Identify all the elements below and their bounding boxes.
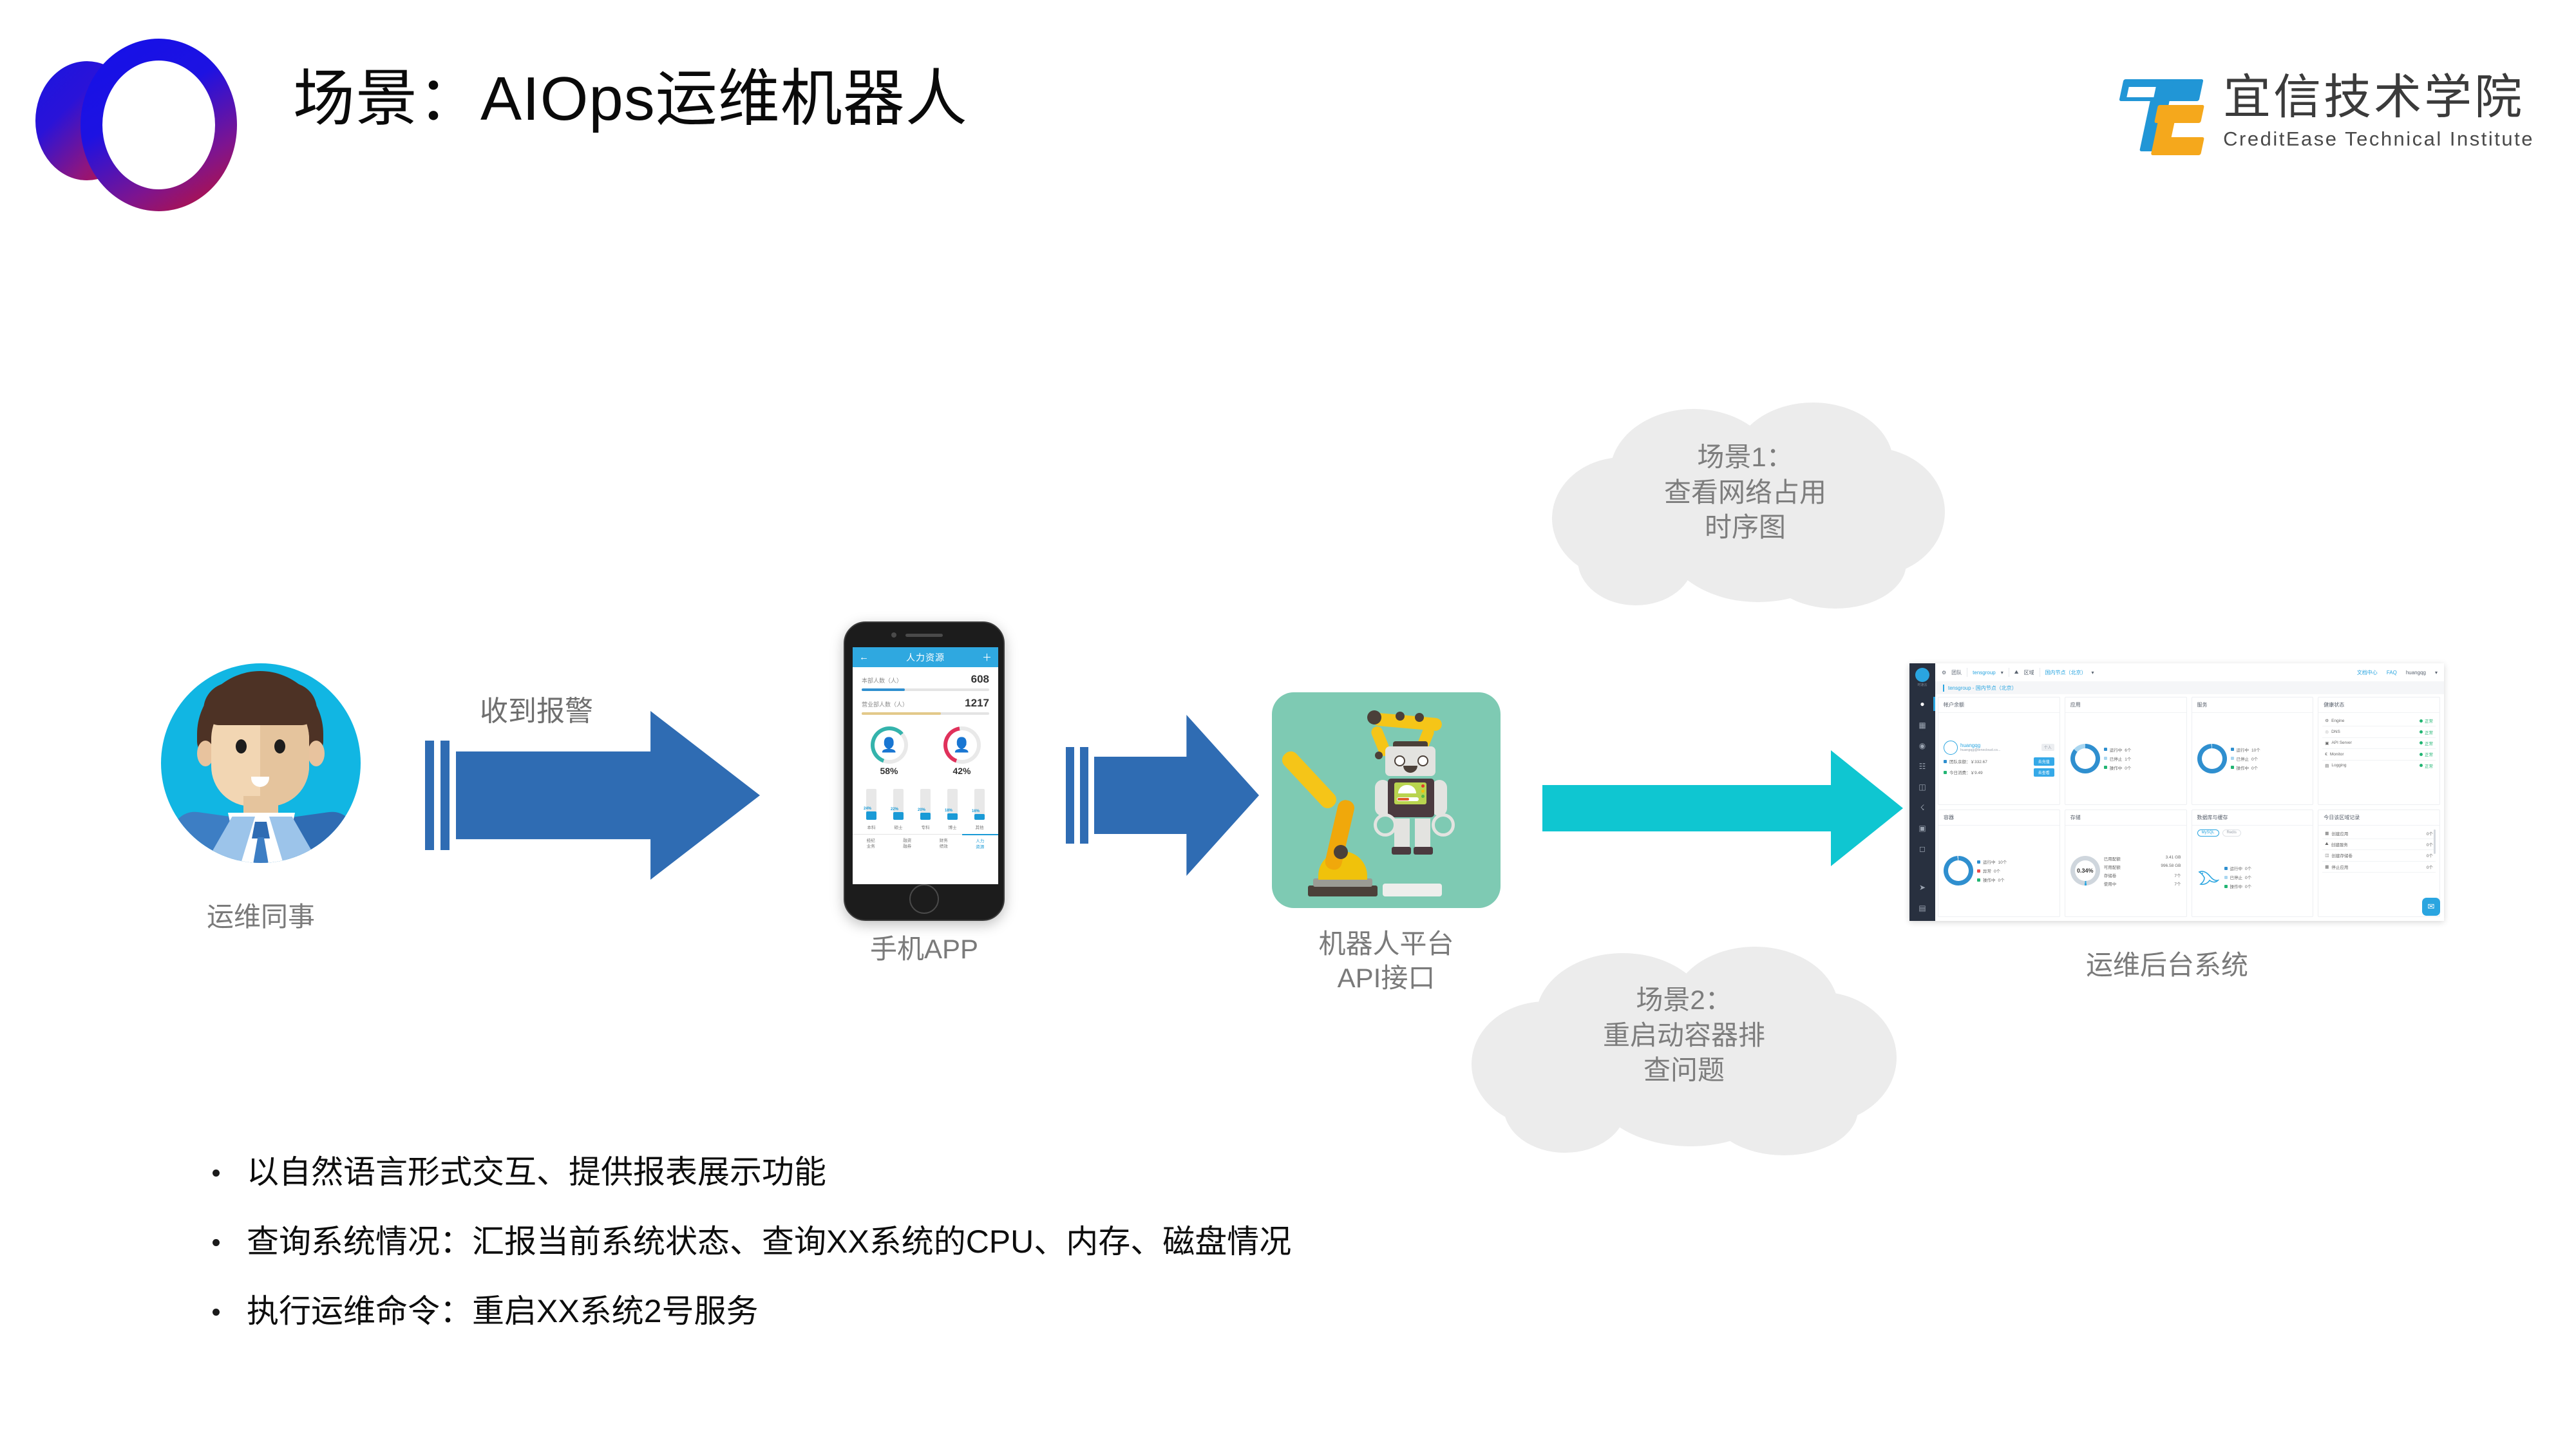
card-title: 今日该区域记录 xyxy=(2318,810,2439,826)
list-item: 以自然语言形式交互、提供报表展示功能 xyxy=(213,1153,1887,1191)
account-username: huangqg xyxy=(1960,743,2000,748)
card-database-cache: 数据库与缓存 MySQL Redis 运行中0个 已停止0个 xyxy=(2192,810,2314,918)
breadcrumb-text: tensgroup - 国内节点（北京） xyxy=(1948,685,2017,692)
region-selector[interactable]: 国内节点（北京） xyxy=(2045,669,2087,676)
metric-label: 本部人数（人） xyxy=(862,676,902,685)
card-services: 服务 运行中10个 已停止0个 操作中0个 xyxy=(2192,697,2314,805)
monitor-icon: € xyxy=(2325,752,2327,757)
bar-label: 硕士 xyxy=(892,824,905,830)
docs-link[interactable]: 文档中心 xyxy=(2357,669,2378,676)
bar-percent: 18% xyxy=(945,809,952,813)
containers-donut-chart xyxy=(1944,856,1973,885)
creditease-logo: 宜信技术学院 CreditEase Technical Institute xyxy=(2116,68,2534,155)
bar-percent: 22% xyxy=(891,808,898,811)
arrow-robot-to-dashboard xyxy=(1542,770,1903,847)
tc-mark-icon xyxy=(2116,68,2206,155)
avatar xyxy=(1944,741,1958,755)
ops-engineer-avatar xyxy=(161,663,361,863)
health-row: ▤ Logging 正常 xyxy=(2322,761,2436,771)
bar-label: 其他 xyxy=(973,824,986,830)
chevron-down-icon[interactable]: ▾ xyxy=(2435,670,2438,676)
bar-item: 18% 博士 xyxy=(946,785,959,830)
cloud2-line3: 查问题 xyxy=(1459,1053,1909,1088)
metric-headquarters: 本部人数（人） 608 xyxy=(853,667,998,691)
bullet-list: 以自然语言形式交互、提供报表展示功能 查询系统情况：汇报当前系统状态、查询XX系… xyxy=(213,1153,1887,1361)
bar-percent: 24% xyxy=(864,807,871,811)
api-server-icon: ▣ xyxy=(2325,741,2329,746)
list-item: 执行运维命令：重启XX系统2号服务 xyxy=(213,1292,1887,1331)
gender-donut-female: 👤 42% xyxy=(943,726,981,776)
bullet-text: 查询系统情况：汇报当前系统状态、查询XX系统的CPU、内存、磁盘情况 xyxy=(247,1222,1291,1261)
record-row: ◫ 创建存储卷0个 xyxy=(2322,850,2436,861)
arrow-person-to-phone xyxy=(425,741,760,850)
sidebar-icon-database[interactable]: ☇ xyxy=(1917,802,1927,813)
bullet-dot-icon xyxy=(213,1239,220,1246)
brand-name-en: CreditEase Technical Institute xyxy=(2223,129,2534,149)
dashboard-sidebar: 时速云 ● ▦ ◉ ☷ ◫ ☇ ▣ ◻ ➤ ▤ xyxy=(1909,663,1935,921)
logo-ring-outline xyxy=(80,39,237,211)
card-title: 存储 xyxy=(2065,810,2186,826)
phone-tab-hr[interactable]: 人力资源 xyxy=(962,834,999,855)
phone-tab-brokerage[interactable]: 经纪业务 xyxy=(853,835,889,855)
bullet-dot-icon xyxy=(213,1309,220,1316)
metric-value: 1217 xyxy=(965,697,989,710)
metric-branches: 营业部人数（人） 1217 xyxy=(853,691,998,715)
ops-engineer-label: 运维同事 xyxy=(161,895,361,934)
redis-tab[interactable]: Redis xyxy=(2222,829,2241,837)
donut-percent: 58% xyxy=(871,766,908,776)
mysql-tab[interactable]: MySQL xyxy=(2197,829,2219,837)
brand-rings-logo xyxy=(35,35,196,184)
bar-label: 博士 xyxy=(946,824,959,830)
health-row: ⚙ Engine 正常 xyxy=(2322,715,2436,726)
bullet-text: 以自然语言形式交互、提供报表展示功能 xyxy=(247,1153,826,1191)
donut-percent: 42% xyxy=(943,766,981,776)
bar-label: 专科 xyxy=(919,824,932,830)
sidebar-icon-monitor[interactable]: ▣ xyxy=(1917,823,1927,833)
stop-app-icon: ▦ xyxy=(2325,864,2329,869)
chevron-down-icon[interactable]: ▾ xyxy=(2092,670,2094,676)
team-balance-label: 团队余额：￥332.67 xyxy=(1949,758,1987,764)
home-button-icon xyxy=(909,884,939,914)
card-title: 服务 xyxy=(2192,697,2313,713)
card-health-status: 健康状态 ⚙ Engine 正常 ☉ DNS 正常 ▣ API Server 正… xyxy=(2318,697,2440,805)
health-row: ☉ DNS 正常 xyxy=(2322,726,2436,737)
sidebar-icon-storage[interactable]: ◫ xyxy=(1917,782,1927,792)
health-row: ▣ API Server 正常 xyxy=(2322,738,2436,749)
chevron-down-icon[interactable]: ▾ xyxy=(2001,670,2003,676)
user-menu[interactable]: huangqg xyxy=(2406,670,2426,676)
sidebar-icon-collapse[interactable]: ▤ xyxy=(1917,903,1927,913)
education-bar-chart: 24% 本科 22% 硕士 20% 专科 xyxy=(853,785,998,830)
cloud2-line2: 重启动容器排 xyxy=(1459,1018,1909,1054)
engine-icon: ⚙ xyxy=(2325,718,2329,723)
cloud-logo-icon xyxy=(1915,668,1929,682)
sidebar-icon-overview[interactable]: ● xyxy=(1917,699,1927,709)
create-service-icon: ⛰ xyxy=(2325,842,2328,847)
bar-item: 24% 本科 xyxy=(865,785,878,830)
card-title: 健康状态 xyxy=(2318,697,2439,713)
cloud1-line3: 时序图 xyxy=(1539,510,1951,545)
card-title: 数据库与缓存 xyxy=(2192,810,2313,826)
team-selector[interactable]: tensgroup xyxy=(1973,670,1996,676)
services-donut-chart xyxy=(2197,744,2227,773)
storage-donut-chart: 0.34% xyxy=(2070,856,2100,885)
view-button[interactable]: 去查看 xyxy=(2034,768,2054,777)
sidebar-icon-network[interactable]: ☷ xyxy=(1917,761,1927,772)
ops-dashboard-label: 运维后台系统 xyxy=(1974,943,2360,983)
bar-item: 16% 其他 xyxy=(973,785,986,830)
account-type-badge: 个人 xyxy=(2041,744,2054,751)
sidebar-icon-user[interactable]: ◻ xyxy=(1917,844,1927,854)
mobile-app-label: 手机APP xyxy=(782,927,1066,967)
today-spend-label: 今日消费：￥9.49 xyxy=(1949,769,1983,775)
bar-item: 20% 专科 xyxy=(919,785,932,830)
metric-value: 608 xyxy=(971,673,989,686)
card-account-balance: 帐户余额 huangqg huangqg@tenxcloud.co... 个人 … xyxy=(1938,697,2060,805)
list-item: 查询系统情况：汇报当前系统状态、查询XX系统的CPU、内存、磁盘情况 xyxy=(213,1222,1887,1261)
brand-name-cn: 宜信技术学院 xyxy=(2223,73,2534,121)
record-row: ▦ 停止应用0个 xyxy=(2322,862,2436,873)
card-storage: 存储 0.34% 已用配额3.41 GB 可用配额996.58 GB 存储卷7个… xyxy=(2065,810,2187,918)
dns-icon: ☉ xyxy=(2325,730,2329,735)
scenario-1-cloud: 场景1： 查看网络占用 时序图 xyxy=(1539,402,1951,615)
create-app-icon: ▦ xyxy=(2325,831,2329,836)
mysql-dolphin-icon xyxy=(2197,867,2219,887)
card-containers: 容器 运行中10个 异常0个 操作中0个 xyxy=(1938,810,2060,918)
record-row: ⛰ 创建服务0个 xyxy=(2322,839,2436,850)
mobile-app-mockup: ← 人力资源 ＋ 本部人数（人） 608 营业部人数（人） 1217 xyxy=(844,621,1005,921)
breadcrumb: tensgroup - 国内节点（北京） xyxy=(1935,681,2444,694)
team-label: 团队 xyxy=(1951,669,1962,676)
sidebar-icon-services[interactable]: ◉ xyxy=(1917,741,1927,751)
health-row: € Monitor 正常 xyxy=(2322,749,2436,760)
account-email: huangqg@tenxcloud.co... xyxy=(1960,748,2000,752)
record-row: ▦ 创建应用0个 xyxy=(2322,828,2436,839)
scenario-2-cloud: 场景2： 重启动容器排 查问题 xyxy=(1459,947,1909,1159)
card-applications: 应用 运行中6个 已停止1个 操作中0个 xyxy=(2065,697,2187,805)
recharge-button[interactable]: 去充值 xyxy=(2034,757,2054,766)
back-icon[interactable]: ← xyxy=(859,652,869,663)
apps-donut-chart xyxy=(2070,744,2100,773)
add-icon[interactable]: ＋ xyxy=(982,650,992,664)
region-icon: ⛰ xyxy=(2014,669,2019,676)
region-label: 区域 xyxy=(2024,669,2034,676)
dashboard-topbar: ⚙ 团队 tensgroup ▾ ⛰ 区域 国内节点（北京） ▾ 文档中心 FA… xyxy=(1935,663,2444,682)
bar-percent: 20% xyxy=(918,808,925,812)
logging-icon: ▤ xyxy=(2325,763,2329,768)
ops-dashboard-screenshot: 时速云 ● ▦ ◉ ☷ ◫ ☇ ▣ ◻ ➤ ▤ ⚙ 团队 tensgroup ▾… xyxy=(1909,663,2444,921)
card-title: 应用 xyxy=(2065,697,2186,713)
bar-percent: 16% xyxy=(972,810,980,813)
create-volume-icon: ◫ xyxy=(2325,853,2329,858)
bullet-text: 执行运维命令：重启XX系统2号服务 xyxy=(247,1292,759,1331)
bullet-dot-icon xyxy=(213,1170,220,1177)
alert-arrow-label: 收到报警 xyxy=(480,688,593,729)
cloud1-line1: 场景1： xyxy=(1539,440,1951,475)
gender-donut-male: 👤 58% xyxy=(871,726,908,776)
card-title: 容器 xyxy=(1938,810,2060,826)
sidebar-brand-label: 时速云 xyxy=(1913,683,1931,687)
cloud2-line1: 场景2： xyxy=(1459,983,1909,1018)
sidebar-icon-deploy[interactable]: ➤ xyxy=(1917,882,1927,893)
metric-label: 营业部人数（人） xyxy=(862,700,908,708)
phone-tab-financing[interactable]: 融资融券 xyxy=(889,835,926,855)
bar-label: 本科 xyxy=(865,824,878,830)
cloud1-line2: 查看网络占用 xyxy=(1539,475,1951,511)
faq-link[interactable]: FAQ xyxy=(2387,670,2397,676)
robot-platform-icon xyxy=(1272,692,1501,908)
team-icon: ⚙ xyxy=(1942,670,1946,676)
scrollbar[interactable] xyxy=(2434,829,2436,854)
bar-item: 22% 硕士 xyxy=(892,785,905,830)
page-title: 场景：AIOps运维机器人 xyxy=(293,48,968,138)
phone-title: 人力资源 xyxy=(906,651,945,664)
arrow-phone-to-robot xyxy=(1066,747,1259,844)
storage-percent: 0.34% xyxy=(2077,867,2094,874)
chat-support-button[interactable]: ✉ xyxy=(2422,898,2440,916)
phone-tab-finance[interactable]: 财务绩效 xyxy=(925,835,962,855)
sidebar-icon-apps[interactable]: ▦ xyxy=(1917,720,1927,730)
phone-titlebar: ← 人力资源 ＋ xyxy=(853,647,998,667)
card-title: 帐户余额 xyxy=(1938,697,2060,713)
